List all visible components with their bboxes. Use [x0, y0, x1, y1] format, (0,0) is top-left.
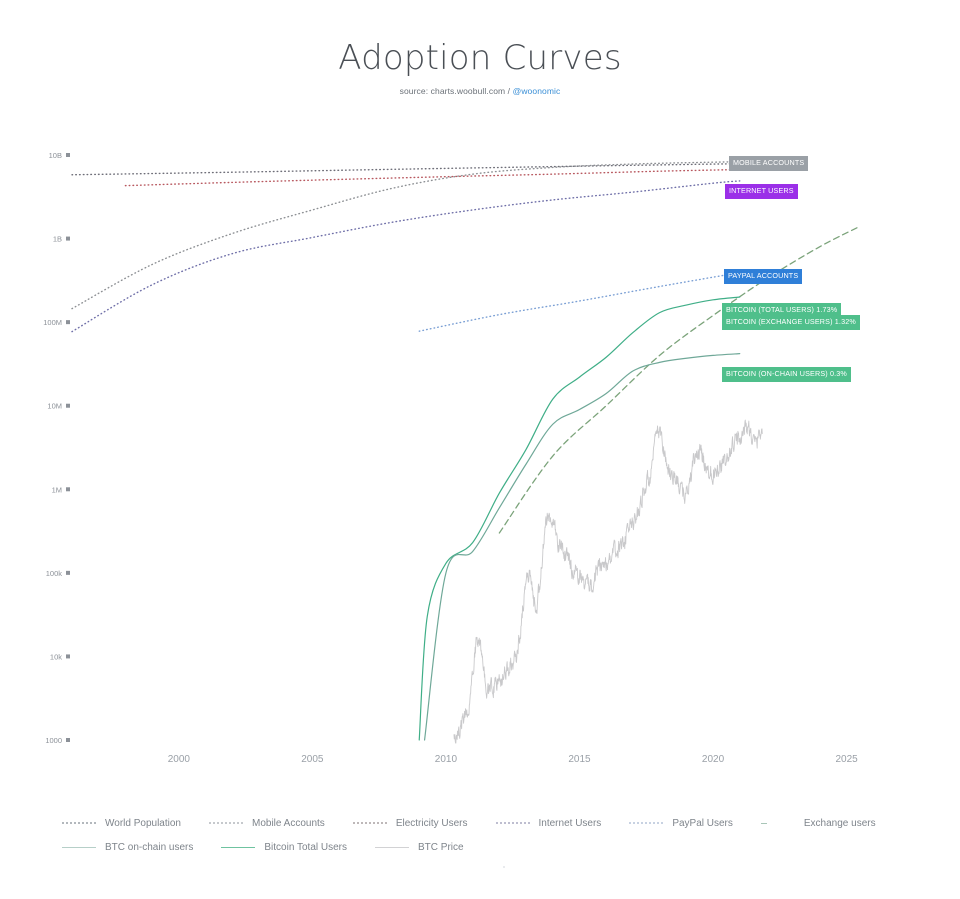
- legend-label: World Population: [105, 818, 181, 829]
- legend-item[interactable]: Internet Users: [496, 812, 630, 834]
- adoption-curves-plot: 10B1B100M10M1M100k10k1000 20002005201020…: [0, 0, 960, 899]
- legend-swatch-solid: [375, 842, 409, 852]
- legend-swatch-solid: [62, 842, 96, 852]
- chart-legend: World PopulationMobile AccountsElectrici…: [62, 812, 912, 858]
- svg-text:1B: 1B: [53, 235, 62, 244]
- legend-label: BTC Price: [418, 842, 464, 853]
- legend-swatch-dotted: [629, 818, 663, 828]
- svg-text:100k: 100k: [46, 569, 63, 578]
- chart-page: Adoption Curves source: charts.woobull.c…: [0, 0, 960, 899]
- annotation-internet-users: INTERNET USERS: [725, 184, 798, 199]
- legend-swatch-dotted: [209, 818, 243, 828]
- svg-text:2020: 2020: [702, 754, 725, 765]
- legend-item[interactable]: Mobile Accounts: [209, 812, 353, 834]
- legend-item[interactable]: World Population: [62, 812, 209, 834]
- legend-label: Exchange users: [804, 818, 876, 829]
- svg-text:1000: 1000: [45, 736, 62, 745]
- annotation-bitcoin-onchain: BITCOIN (ON-CHAIN USERS) 0.3%: [722, 367, 851, 382]
- svg-text:100M: 100M: [43, 318, 62, 327]
- annotation-bitcoin-exchange: BITCOIN (EXCHANGE USERS) 1.32%: [722, 315, 860, 330]
- annotation-paypal-accounts: PAYPAL ACCOUNTS: [724, 269, 802, 284]
- svg-text:2005: 2005: [301, 754, 324, 765]
- legend-label: Bitcoin Total Users: [264, 842, 347, 853]
- svg-text:2025: 2025: [835, 754, 858, 765]
- y-axis-ticks: 10B1B100M10M1M100k10k1000: [43, 151, 70, 745]
- svg-text:2000: 2000: [168, 754, 191, 765]
- legend-swatch-dotted: [62, 818, 96, 828]
- x-axis-ticks: 200020052010201520202025: [168, 754, 858, 765]
- series-curves: [72, 162, 860, 740]
- svg-text:10M: 10M: [47, 402, 62, 411]
- legend-swatch-dotted: [353, 818, 387, 828]
- legend-swatch-dashed: [761, 818, 795, 828]
- legend-item[interactable]: BTC on-chain users: [62, 836, 221, 858]
- annotation-mobile-accounts: MOBILE ACCOUNTS: [729, 156, 808, 171]
- btc-price-curve: [454, 420, 762, 743]
- svg-text:10k: 10k: [50, 652, 62, 661]
- legend-item[interactable]: Electricity Users: [353, 812, 496, 834]
- legend-item[interactable]: PayPal Users: [629, 812, 761, 834]
- svg-text:1M: 1M: [52, 485, 62, 494]
- legend-label: Electricity Users: [396, 818, 468, 829]
- legend-label: Internet Users: [539, 818, 602, 829]
- footer-dot: [503, 866, 505, 868]
- svg-text:10B: 10B: [49, 151, 62, 160]
- legend-item[interactable]: Bitcoin Total Users: [221, 836, 375, 858]
- legend-label: PayPal Users: [672, 818, 733, 829]
- legend-item[interactable]: BTC Price: [375, 836, 492, 858]
- legend-swatch-solid: [221, 842, 255, 852]
- legend-item[interactable]: Exchange users: [761, 812, 904, 834]
- svg-text:2015: 2015: [568, 754, 591, 765]
- legend-label: Mobile Accounts: [252, 818, 325, 829]
- svg-text:2010: 2010: [435, 754, 458, 765]
- legend-swatch-dotted: [496, 818, 530, 828]
- legend-label: BTC on-chain users: [105, 842, 193, 853]
